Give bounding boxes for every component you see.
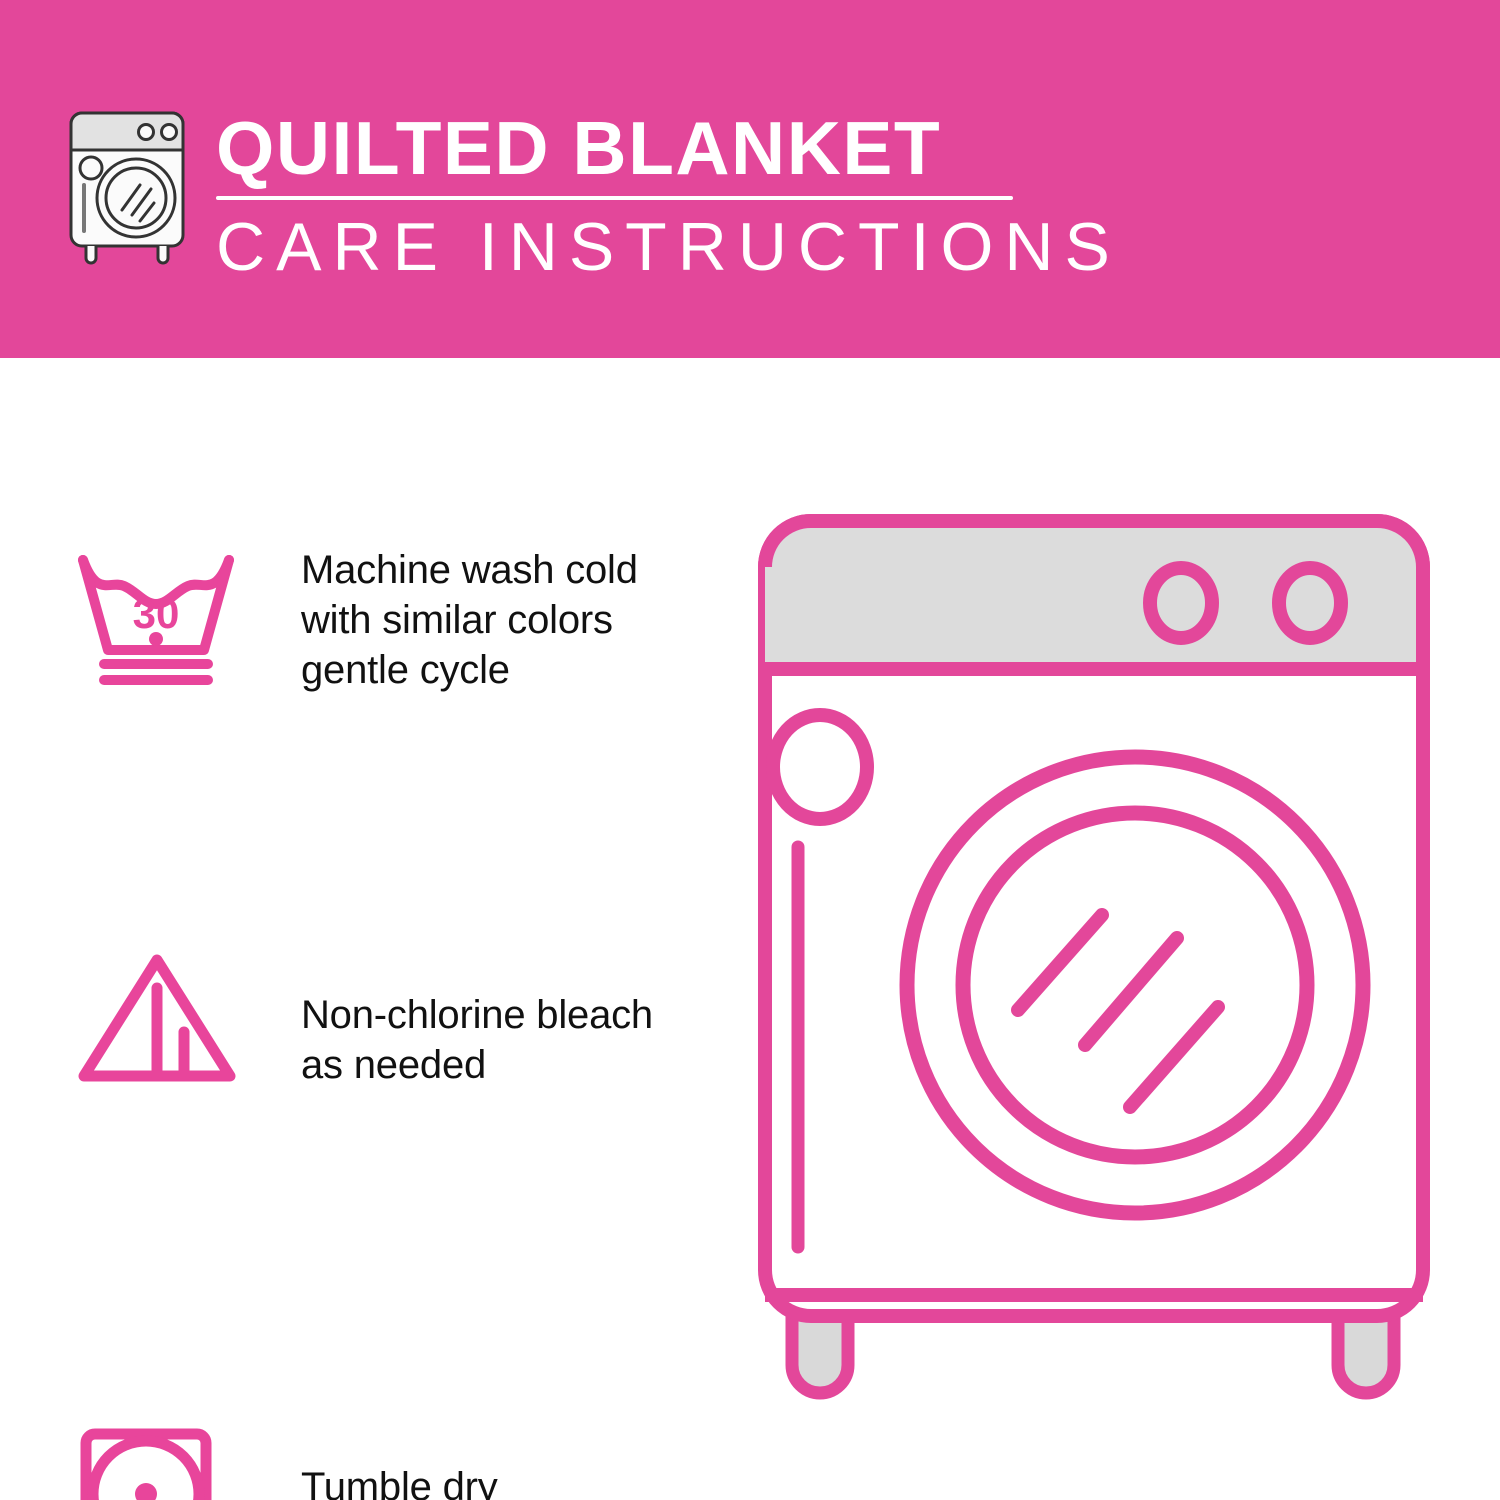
tumble-dry-low-icon: [72, 1424, 252, 1500]
care-instructions-infographic: QUILTED BLANKET CARE INSTRUCTIONS: [0, 0, 1500, 1500]
care-label: Machine wash cold with similar colors ge…: [301, 545, 638, 695]
front-load-washing-machine-illustration: [740, 495, 1450, 1415]
title-divider: [216, 196, 1013, 200]
care-label: Tumble dry low heat: [301, 1462, 498, 1500]
washing-machine-icon: [62, 105, 192, 265]
machine-wash-30-gentle-icon: 30: [72, 538, 252, 688]
non-chlorine-bleach-icon: [72, 948, 252, 1088]
page-title: QUILTED BLANKET: [216, 108, 1016, 188]
header-banner: QUILTED BLANKET CARE INSTRUCTIONS: [0, 0, 1500, 358]
header-text-block: QUILTED BLANKET CARE INSTRUCTIONS: [216, 108, 1016, 284]
wash-temperature-label: 30: [133, 590, 180, 637]
page-subtitle: CARE INSTRUCTIONS: [216, 210, 1016, 284]
care-label: Non-chlorine bleach as needed: [301, 990, 653, 1090]
